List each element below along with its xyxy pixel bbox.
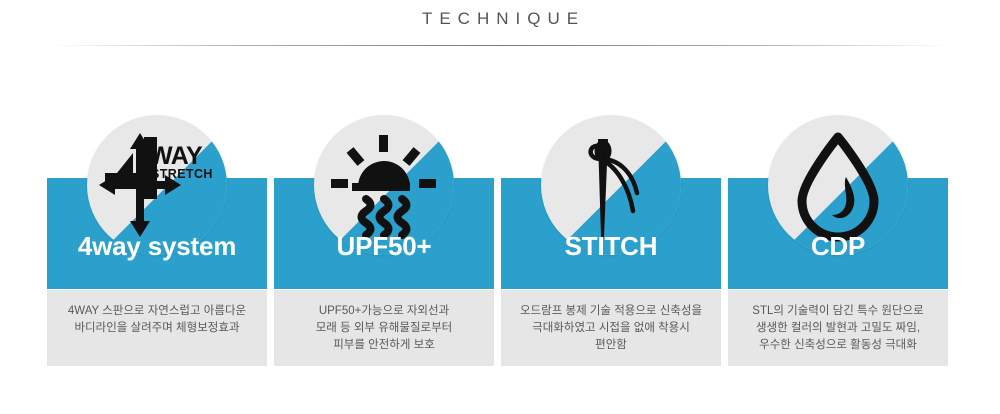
card-title: CDP <box>728 231 948 261</box>
page-header: TECHNIQUE <box>0 0 1000 46</box>
medallion-secondary-label: STRETCH <box>151 167 213 181</box>
card-description: 오드람프 봉제 기술 적용으로 신축성을 극대화하였고 시접을 없애 착용시 편… <box>511 303 711 354</box>
page-title: TECHNIQUE <box>0 6 1000 32</box>
card-description: STL의 기술력이 담긴 특수 원단으로 생생한 컬러의 발현과 고밀도 짜임,… <box>738 303 938 354</box>
header-divider <box>50 45 950 46</box>
technique-card[interactable]: UPF50+ UPF50+가능으로 자외선과 모래 등 외부 유해물질로부터 피… <box>274 112 494 366</box>
card-title: STITCH <box>501 231 721 261</box>
technique-card-list: WAY STRETCH 4way system 4WAY 스판으로 자연스럽고 … <box>47 112 955 366</box>
technique-card[interactable]: WAY STRETCH 4way system 4WAY 스판으로 자연스럽고 … <box>47 112 267 366</box>
technique-card[interactable]: STITCH 오드람프 봉제 기술 적용으로 신축성을 극대화하였고 시접을 없… <box>501 112 721 366</box>
card-title: 4way system <box>47 231 267 261</box>
technique-card[interactable]: CDP STL의 기술력이 담긴 특수 원단으로 생생한 컬러의 발현과 고밀도… <box>728 112 948 366</box>
card-description: UPF50+가능으로 자외선과 모래 등 외부 유해물질로부터 피부를 안전하게… <box>284 303 484 354</box>
card-title: UPF50+ <box>274 231 494 261</box>
card-description: 4WAY 스판으로 자연스럽고 아름다운 바디라인을 살려주며 체형보정효과 <box>57 303 257 337</box>
